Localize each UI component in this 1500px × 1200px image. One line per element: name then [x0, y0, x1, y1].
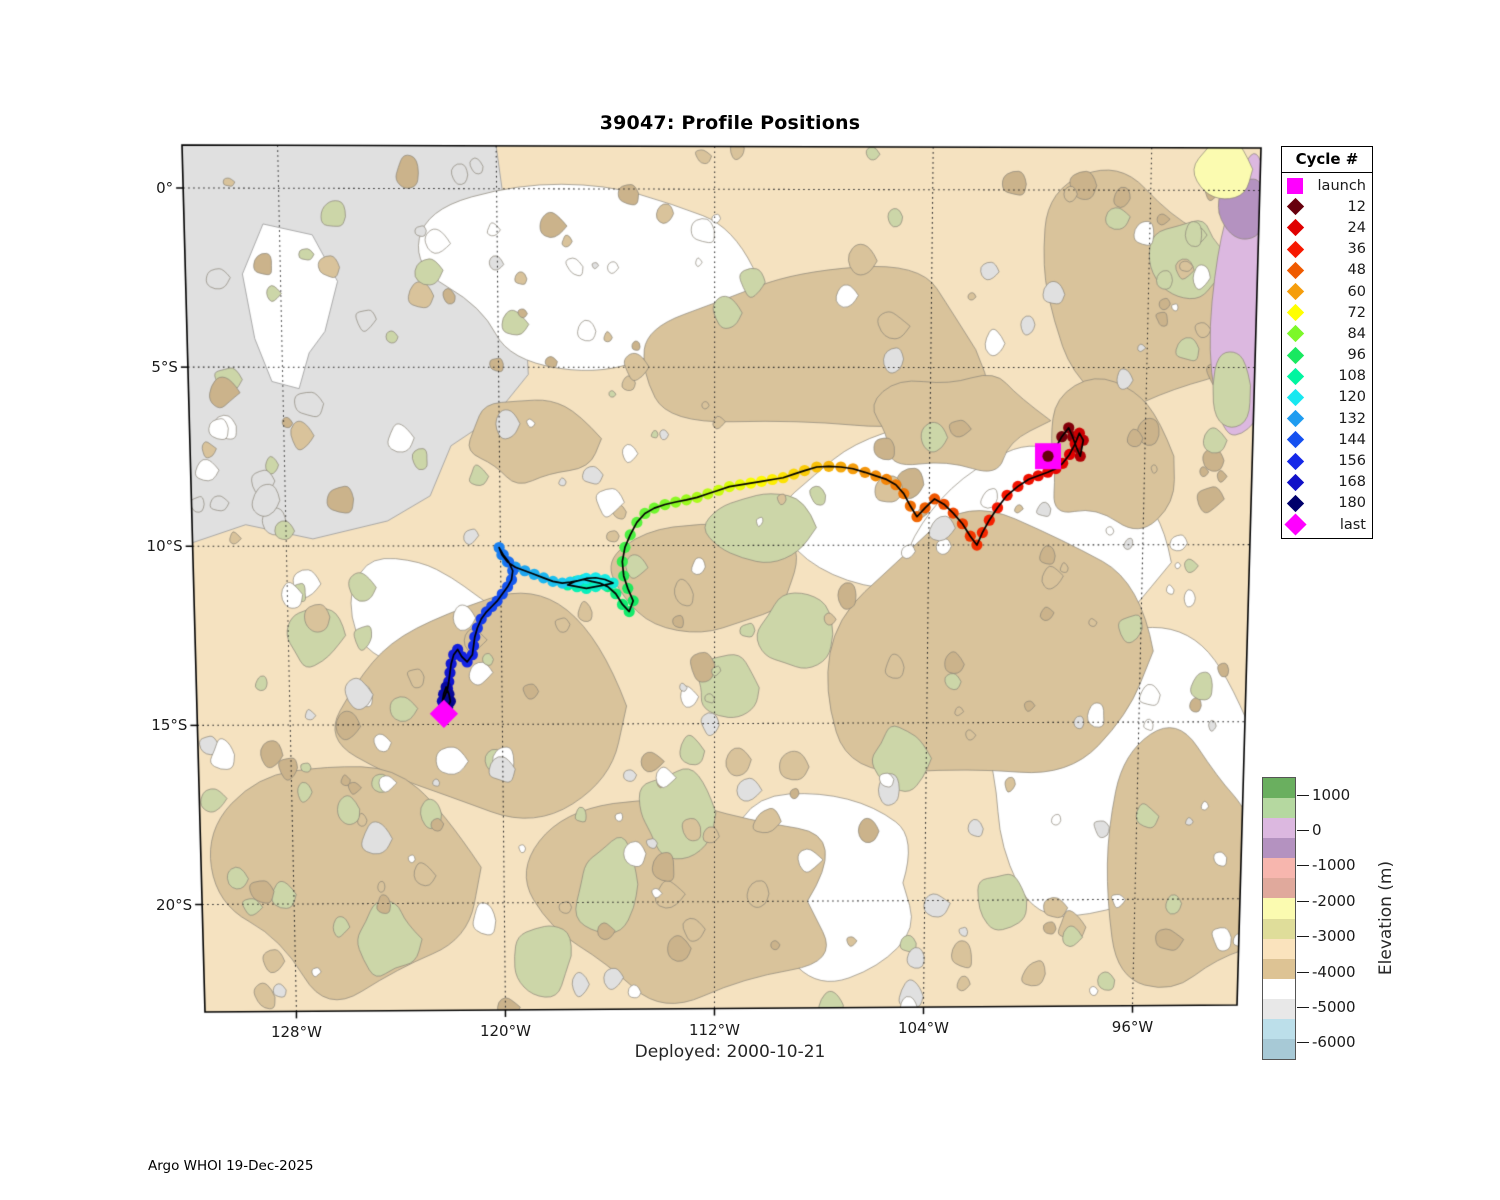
legend-swatch-diamond-icon [1287, 283, 1304, 300]
colorbar-band-13 [1263, 1039, 1295, 1059]
y-tick-label-4: 20°S [130, 896, 192, 914]
colorbar-band-2 [1263, 818, 1295, 838]
y-tick-label-2: 10°S [121, 537, 183, 555]
colorbar-band-9 [1263, 959, 1295, 979]
legend-label: 12 [1304, 199, 1372, 215]
colorbar-band-5 [1263, 878, 1295, 898]
legend-item-144[interactable]: 144 [1282, 429, 1372, 450]
legend-item-last[interactable]: last [1282, 514, 1372, 535]
y-tick-label-3: 15°S [125, 716, 187, 734]
colorbar-tick-3 [1297, 901, 1309, 902]
legend-item-60[interactable]: 60 [1282, 281, 1372, 302]
legend-item-36[interactable]: 36 [1282, 239, 1372, 260]
colorbar-tick-label-1: 0 [1312, 821, 1322, 839]
colorbar-tick-label-3: -2000 [1312, 892, 1356, 910]
legend-title: Cycle # [1282, 147, 1372, 173]
legend-swatch-diamond-icon [1287, 368, 1304, 385]
colorbar-band-1 [1263, 798, 1295, 818]
cycle-legend[interactable]: Cycle # launch12243648607284961081201321… [1281, 146, 1373, 539]
legend-label: 84 [1304, 326, 1372, 342]
legend-swatch-diamond-icon [1287, 219, 1304, 236]
legend-label: 96 [1304, 347, 1372, 363]
colorbar-band-3 [1263, 838, 1295, 858]
legend-swatch-diamond-icon [1287, 452, 1304, 469]
colorbar-tick-6 [1297, 1007, 1309, 1008]
legend-label: 144 [1304, 432, 1372, 448]
legend-item-168[interactable]: 168 [1282, 472, 1372, 493]
x-tick-label-4: 96°W [1112, 1018, 1153, 1036]
legend-label: 72 [1304, 305, 1372, 321]
legend-label: 180 [1304, 495, 1372, 511]
colorbar-band-0 [1263, 778, 1295, 798]
colorbar-tick-label-7: -6000 [1312, 1033, 1356, 1051]
colorbar-band-10 [1263, 979, 1295, 999]
legend-label: 108 [1304, 368, 1372, 384]
legend-label: 36 [1304, 241, 1372, 257]
legend-swatch-diamond-icon [1287, 198, 1304, 215]
credit-label: Argo WHOI 19-Dec-2025 [148, 1158, 313, 1174]
colorbar-tick-1 [1297, 830, 1309, 831]
legend-label: launch [1303, 178, 1372, 194]
colorbar-band-6 [1263, 898, 1295, 918]
legend-swatch-diamond-icon [1287, 389, 1304, 406]
x-tick-label-3: 104°W [898, 1019, 949, 1037]
colorbar-tick-label-0: 1000 [1312, 786, 1350, 804]
legend-label: last [1304, 517, 1372, 533]
colorbar-tick-label-4: -3000 [1312, 927, 1356, 945]
legend-label: 24 [1304, 220, 1372, 236]
legend-item-96[interactable]: 96 [1282, 345, 1372, 366]
legend-item-156[interactable]: 156 [1282, 450, 1372, 471]
x-tick-label-2: 112°W [689, 1021, 740, 1039]
legend-swatch-diamond-icon [1287, 410, 1304, 427]
legend-label: 120 [1304, 389, 1372, 405]
legend-swatch-diamond-icon [1287, 262, 1304, 279]
y-tick-label-0: 0° [111, 179, 173, 197]
page-title: 39047: Profile Positions [0, 112, 1460, 134]
legend-swatch-diamond-icon [1287, 431, 1304, 448]
x-tick-label-1: 120°W [480, 1022, 531, 1040]
legend-item-launch[interactable]: launch [1282, 175, 1372, 196]
colorbar-tick-5 [1297, 972, 1309, 973]
colorbar-band-11 [1263, 999, 1295, 1019]
x-tick-label-0: 128°W [271, 1023, 322, 1041]
elevation-colorbar [1262, 777, 1296, 1060]
colorbar-band-12 [1263, 1019, 1295, 1039]
legend-item-132[interactable]: 132 [1282, 408, 1372, 429]
legend-label: 60 [1304, 284, 1372, 300]
legend-item-180[interactable]: 180 [1282, 493, 1372, 514]
legend-item-48[interactable]: 48 [1282, 260, 1372, 281]
legend-item-108[interactable]: 108 [1282, 366, 1372, 387]
colorbar-tick-2 [1297, 865, 1309, 866]
colorbar-title: Elevation (m) [1376, 861, 1396, 975]
legend-swatch-diamond-icon [1287, 474, 1304, 491]
legend-label: 168 [1304, 474, 1372, 490]
colorbar-band-8 [1263, 939, 1295, 959]
legend-item-24[interactable]: 24 [1282, 217, 1372, 238]
legend-item-120[interactable]: 120 [1282, 387, 1372, 408]
colorbar-tick-label-2: -1000 [1312, 856, 1356, 874]
legend-item-72[interactable]: 72 [1282, 302, 1372, 323]
legend-item-84[interactable]: 84 [1282, 323, 1372, 344]
y-tick-label-1: 5°S [116, 358, 178, 376]
colorbar-band-4 [1263, 858, 1295, 878]
legend-swatch-diamond-icon [1287, 325, 1304, 342]
legend-items: launch1224364860728496108120132144156168… [1282, 173, 1372, 538]
colorbar-tick-4 [1297, 936, 1309, 937]
deployed-label: Deployed: 2000-10-21 [0, 1042, 1460, 1062]
legend-label: 48 [1304, 262, 1372, 278]
colorbar-tick-label-5: -4000 [1312, 963, 1356, 981]
legend-item-12[interactable]: 12 [1282, 196, 1372, 217]
legend-swatch-diamond-icon [1287, 241, 1304, 258]
legend-swatch-square-icon [1287, 178, 1303, 194]
colorbar-tick-7 [1297, 1042, 1309, 1043]
colorbar-tick-0 [1297, 795, 1309, 796]
legend-swatch-diamond-icon [1287, 304, 1304, 321]
legend-swatch-diamond-icon [1287, 346, 1304, 363]
legend-label: 156 [1304, 453, 1372, 469]
legend-swatch-diamond-icon [1287, 495, 1304, 512]
colorbar-tick-label-6: -5000 [1312, 998, 1356, 1016]
colorbar-band-7 [1263, 919, 1295, 939]
legend-label: 132 [1304, 411, 1372, 427]
